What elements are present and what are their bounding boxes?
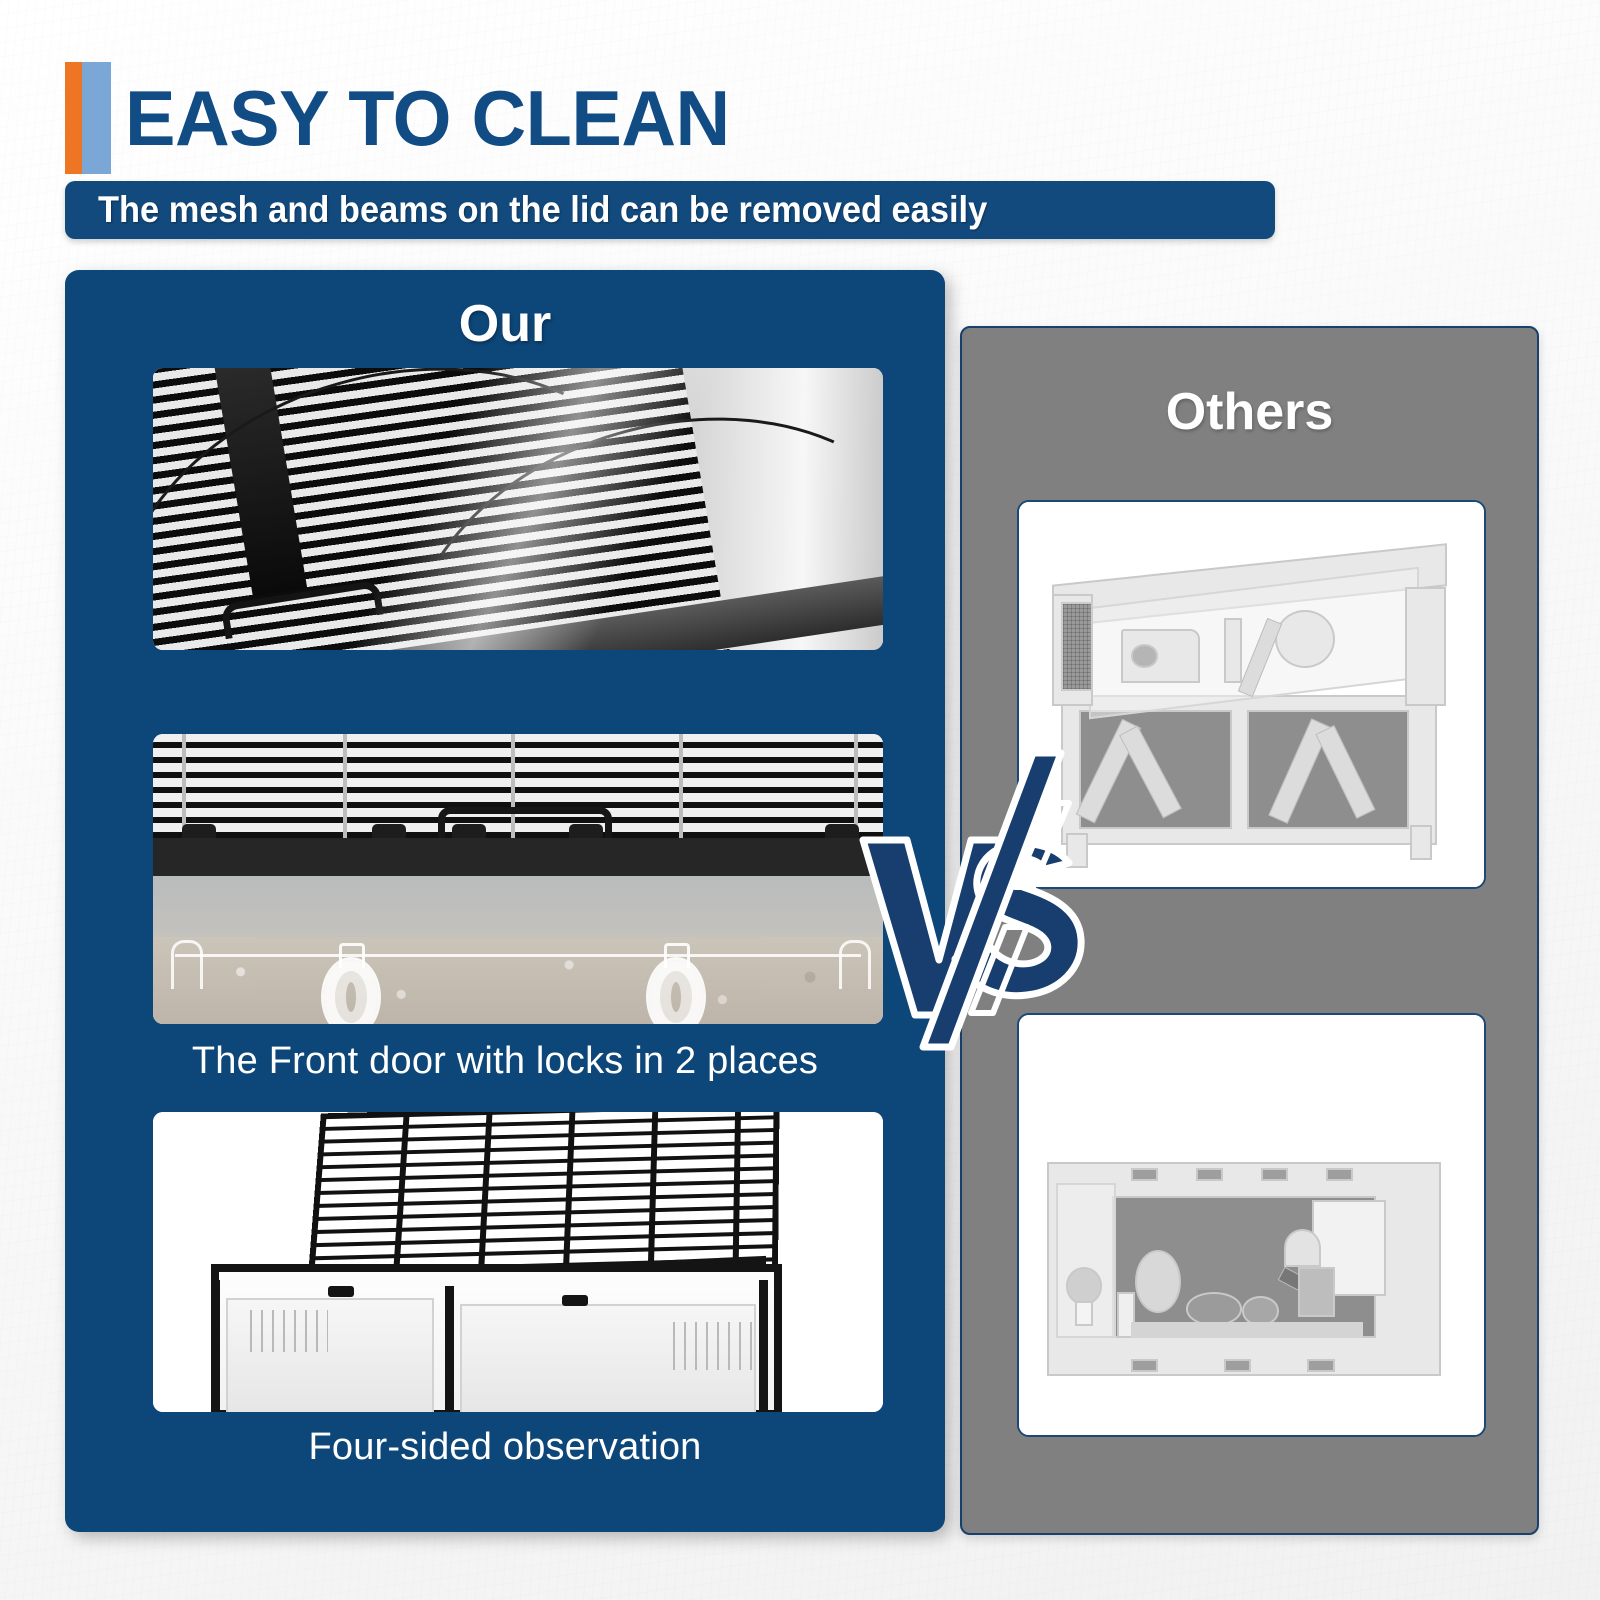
door-lock-icon-right: [646, 957, 706, 1024]
door-lock-icon-left: [321, 957, 381, 1024]
our-card-front-door-locks: [153, 734, 883, 1024]
our-heading: Our: [65, 294, 945, 354]
infographic-root: EASY TO CLEAN The mesh and beams on the …: [0, 0, 1600, 1600]
removable-mesh-lid-image: [153, 368, 883, 650]
our-panel: Our: [65, 270, 945, 1532]
subtitle-text: The mesh and beams on the lid can be rem…: [98, 189, 987, 231]
wooden-box-cage-image: [1019, 1015, 1484, 1435]
open-lid-cage-image: [153, 1112, 883, 1412]
subtitle-banner: The mesh and beams on the lid can be rem…: [65, 181, 1275, 239]
front-door-locks-image: [153, 734, 883, 1024]
caption-four-sided-observation: Four-sided observation: [65, 1426, 945, 1469]
vs-badge: [855, 745, 1095, 1055]
title-accent-orange-bar: [65, 62, 82, 174]
title-text: EASY TO CLEAN: [125, 62, 730, 174]
page-title: EASY TO CLEAN: [65, 62, 748, 174]
our-card-removable-mesh-lid: [153, 368, 883, 650]
title-accent-blue-bar: [82, 62, 111, 174]
others-card-wooden-box-cage: [1017, 1013, 1486, 1437]
others-heading: Others: [962, 382, 1537, 442]
caption-front-door-locks: The Front door with locks in 2 places: [65, 1040, 945, 1083]
our-card-four-sided-observation: [153, 1112, 883, 1412]
